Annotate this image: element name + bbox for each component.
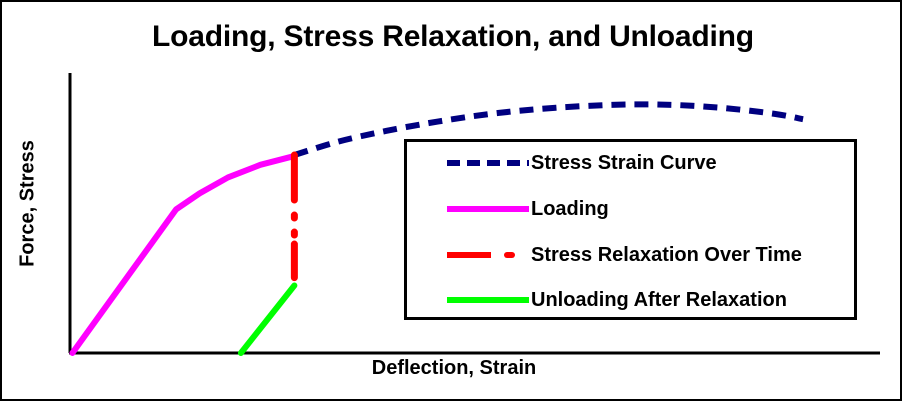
legend-label-stress-relaxation-over-time: Stress Relaxation Over Time — [531, 245, 802, 265]
legend-item-stress-strain-curve[interactable]: Stress Strain Curve — [407, 148, 854, 178]
chart-legend: Stress Strain Curve Loading Stress Relax… — [404, 139, 857, 320]
legend-swatch-unloading-after-relaxation — [445, 287, 531, 313]
legend-swatch-stress-strain-curve — [445, 150, 531, 176]
series-unloading-after-relaxation — [241, 286, 294, 353]
legend-item-unloading-after-relaxation[interactable]: Unloading After Relaxation — [407, 285, 854, 315]
legend-swatch-loading — [445, 196, 531, 222]
legend-label-loading: Loading — [531, 199, 609, 219]
legend-item-stress-relaxation-over-time[interactable]: Stress Relaxation Over Time — [407, 240, 854, 270]
legend-label-unloading-after-relaxation: Unloading After Relaxation — [531, 290, 787, 310]
legend-label-stress-strain-curve: Stress Strain Curve — [531, 153, 717, 173]
legend-item-loading[interactable]: Loading — [407, 194, 854, 224]
chart-figure: Loading, Stress Relaxation, and Unloadin… — [0, 0, 902, 401]
legend-swatch-stress-relaxation-over-time — [445, 242, 531, 268]
